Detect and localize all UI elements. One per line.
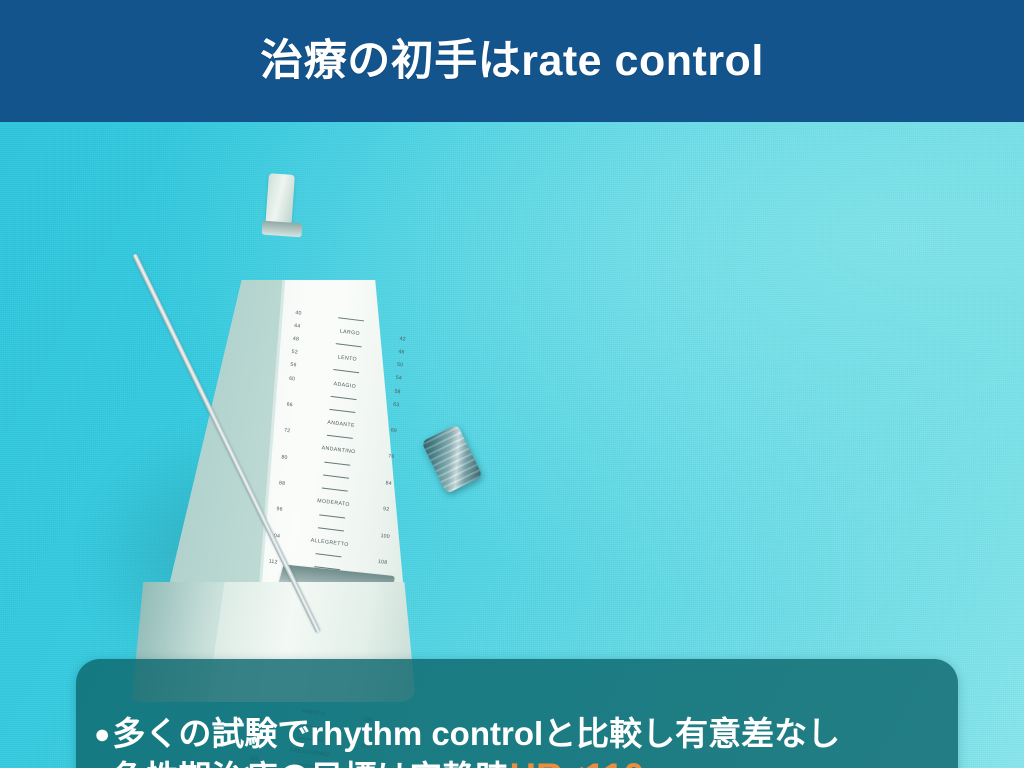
- tempo-bpm-right: 63: [391, 401, 417, 410]
- tempo-bpm-right: [387, 443, 413, 446]
- tempo-tick-mark: [329, 409, 355, 413]
- metronome-illustration: 4044LARGO42484652LENTO50565460ADAGIO5863…: [120, 152, 440, 682]
- caption-bullet-2: ● 急性期治療の目標は安静時 HR<110: [94, 751, 644, 768]
- tempo-tick-mark: [336, 343, 362, 347]
- tempo-bpm-right: [390, 417, 416, 420]
- tempo-bpm-left: 72: [264, 425, 292, 434]
- heart-rate-target-highlight: HR<110: [509, 756, 644, 768]
- bullet-dot-icon: ●: [94, 721, 110, 748]
- tempo-bpm-right: 92: [381, 506, 407, 515]
- tempo-bpm-left: [263, 441, 291, 444]
- tempo-tick-mark: [338, 317, 364, 321]
- caption-bullet-1: ● 多くの試験でrhythm controlと比較し有意差なし: [94, 707, 840, 755]
- tempo-bpm-right: [385, 470, 411, 473]
- slide-title: 治療の初手はrate control: [260, 40, 764, 83]
- tempo-bpm-left: 88: [259, 478, 287, 487]
- tempo-tick-mark: [327, 435, 353, 439]
- tempo-bpm-left: 48: [273, 333, 301, 342]
- slide-title-bar: 治療の初手はrate control: [0, 0, 1024, 122]
- tempo-bpm-right: 42: [397, 335, 423, 344]
- metronome-weight-ridges: [421, 424, 482, 494]
- tempo-bpm-right: 100: [378, 532, 404, 541]
- tempo-bpm-right: 69: [388, 427, 414, 436]
- tempo-bpm-left: [261, 468, 289, 471]
- tempo-bpm-right: 58: [392, 388, 418, 397]
- tempo-tick-mark: [316, 553, 342, 557]
- tempo-tick-mark: [318, 527, 344, 531]
- tempo-bpm-left: [266, 415, 294, 418]
- metronome-clip-foot: [262, 221, 303, 238]
- tempo-bpm-right: 46: [396, 349, 422, 358]
- tempo-bpm-right: 54: [393, 375, 419, 384]
- tempo-bpm-left: 60: [269, 373, 297, 382]
- tempo-tick-mark: [333, 369, 359, 373]
- tempo-bpm-right: [399, 325, 425, 328]
- tempo-bpm-right: [380, 522, 406, 525]
- tempo-tick-mark: [324, 461, 350, 465]
- tempo-bpm-left: 56: [270, 360, 298, 369]
- tempo-bpm-left: [268, 389, 296, 392]
- tempo-bpm-right: 76: [386, 454, 412, 463]
- tempo-bpm-right: 84: [383, 480, 409, 489]
- tempo-bpm-right: [382, 496, 408, 499]
- tempo-tick-mark: [323, 475, 349, 479]
- tempo-bpm-right: [377, 548, 403, 551]
- caption-content: ● 多くの試験でrhythm controlと比較し有意差なし ● 急性期治療の…: [76, 659, 958, 768]
- caption-bullet-1-text: 多くの試験でrhythm controlと比較し有意差なし: [112, 707, 840, 755]
- tempo-bpm-left: [258, 494, 286, 497]
- tempo-tick-mark: [331, 396, 357, 400]
- tempo-bpm-left: [250, 573, 278, 576]
- caption-bullet-2-text: 急性期治療の目標は安静時: [112, 751, 508, 768]
- slide-root: 治療の初手はrate control 4044LARGO42484652LENT…: [0, 0, 1024, 768]
- tempo-bpm-right: 108: [376, 559, 402, 568]
- tempo-bpm-left: 40: [275, 307, 303, 316]
- tempo-bpm-left: 112: [251, 557, 279, 566]
- tempo-bpm-left: 44: [274, 320, 302, 329]
- tempo-tick-mark: [319, 514, 345, 518]
- tempo-bpm-left: 52: [272, 347, 300, 356]
- tempo-bpm-left: 80: [262, 452, 290, 461]
- metronome-photo: 4044LARGO42484652LENTO50565460ADAGIO5863…: [0, 122, 1024, 768]
- caption-overlay-box: ● 多くの試験でrhythm controlと比較し有意差なし ● 急性期治療の…: [76, 659, 958, 768]
- tempo-tick-mark: [322, 488, 348, 492]
- tempo-bpm-right: 50: [395, 362, 421, 371]
- tempo-bpm-left: [255, 520, 283, 523]
- tempo-bpm-left: 66: [267, 399, 295, 408]
